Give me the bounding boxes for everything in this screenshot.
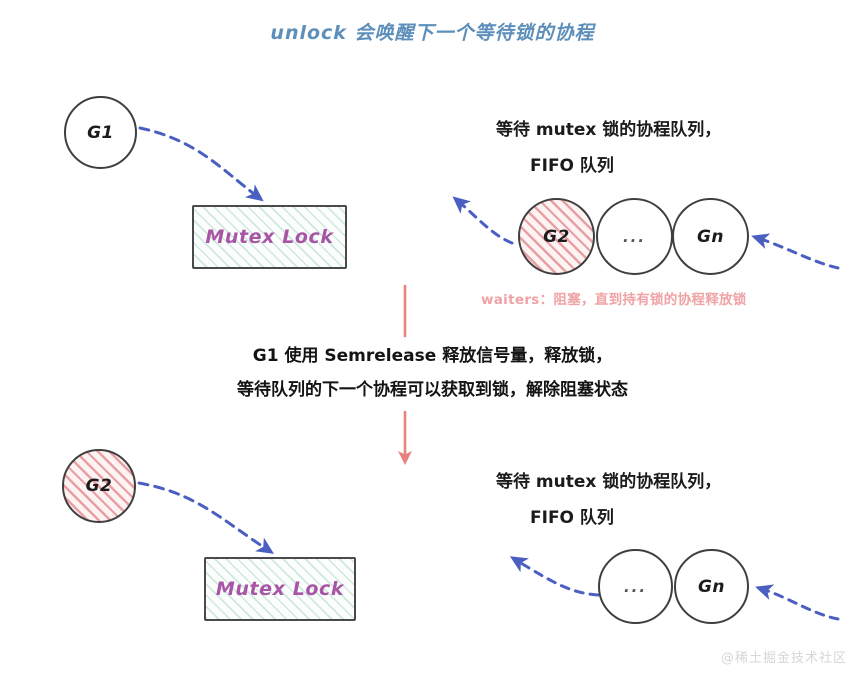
arrow-queue-tail-bottom (762, 589, 838, 619)
arrow-queue-head-bottom (516, 560, 598, 595)
arrow-queue-head-top (458, 201, 512, 243)
queue-node-gn-top[interactable]: Gn (672, 198, 749, 275)
waiters-note: waiters：阻塞，直到持有锁的协程释放锁 (481, 288, 747, 308)
mutex-lock-label-bottom: Mutex Lock (216, 578, 344, 600)
queue-caption-bottom-line1: 等待 mutex 锁的协程队列， (496, 464, 721, 500)
queue-node-gn-bottom-label: Gn (698, 577, 725, 597)
arrow-queue-tail-top (758, 238, 838, 268)
queue-node-ellipsis-top-label: ... (623, 228, 646, 246)
node-g1-label: G1 (87, 123, 114, 143)
mutex-lock-box-bottom[interactable]: Mutex Lock (204, 557, 356, 621)
queue-caption-bottom: 等待 mutex 锁的协程队列， FIFO 队列 (496, 464, 721, 536)
queue-caption-top: 等待 mutex 锁的协程队列， FIFO 队列 (496, 112, 721, 184)
mutex-lock-box-top[interactable]: Mutex Lock (192, 205, 347, 269)
middle-note-line2: 等待队列的下一个协程可以获取到锁，解除阻塞状态 (0, 373, 865, 407)
queue-caption-bottom-line2: FIFO 队列 (496, 500, 721, 536)
queue-node-ellipsis-bottom-label: ... (624, 578, 647, 596)
queue-caption-top-line2: FIFO 队列 (496, 148, 721, 184)
watermark: @稀土掘金技术社区 (721, 647, 847, 666)
queue-caption-top-line1: 等待 mutex 锁的协程队列， (496, 112, 721, 148)
diagram-canvas: unlock 会唤醒下一个等待锁的协程 G1 M (0, 0, 865, 684)
node-g2-bottom-label: G2 (86, 476, 113, 496)
queue-node-gn-bottom[interactable]: Gn (674, 549, 749, 624)
queue-node-ellipsis-bottom[interactable]: ... (598, 549, 673, 624)
arrow-g1-to-lock (140, 128, 258, 197)
mutex-lock-label-top: Mutex Lock (205, 226, 333, 248)
node-g1[interactable]: G1 (64, 96, 137, 169)
middle-note: G1 使用 Semrelease 释放信号量，释放锁， 等待队列的下一个协程可以… (0, 339, 865, 407)
arrow-g2-to-lock (139, 483, 268, 550)
queue-node-ellipsis-top[interactable]: ... (596, 198, 673, 275)
queue-node-gn-top-label: Gn (697, 227, 724, 247)
queue-node-g2-top[interactable]: G2 (518, 198, 595, 275)
queue-node-g2-top-label: G2 (543, 227, 570, 247)
middle-note-line1: G1 使用 Semrelease 释放信号量，释放锁， (0, 339, 865, 373)
node-g2-bottom[interactable]: G2 (62, 449, 136, 523)
